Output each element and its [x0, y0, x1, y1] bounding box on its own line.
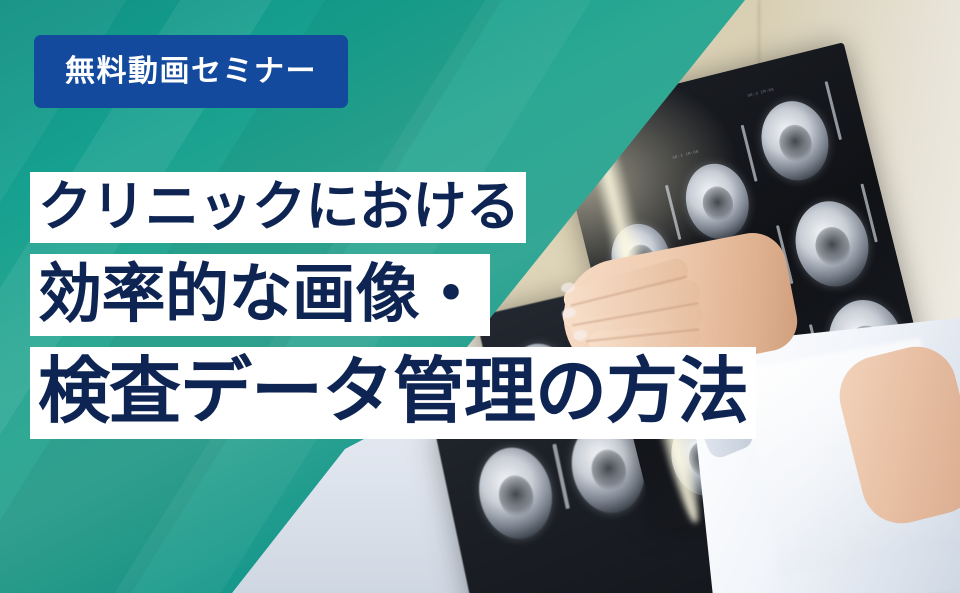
headline: クリニックにおける 効率的な画像・ 検査データ管理の方法: [30, 172, 756, 439]
headline-line-1: クリニックにおける: [30, 172, 526, 243]
seminar-badge: 無料動画セミナー: [34, 35, 348, 108]
headline-line-3: 検査データ管理の方法: [30, 347, 756, 439]
seminar-banner: SE:2 IM:14 SE:2 IM:15 SE:3 IM:08 SE:3 IM…: [0, 0, 960, 593]
seminar-badge-label: 無料動画セミナー: [65, 57, 317, 87]
headline-line-2: 効率的な画像・: [30, 254, 490, 336]
